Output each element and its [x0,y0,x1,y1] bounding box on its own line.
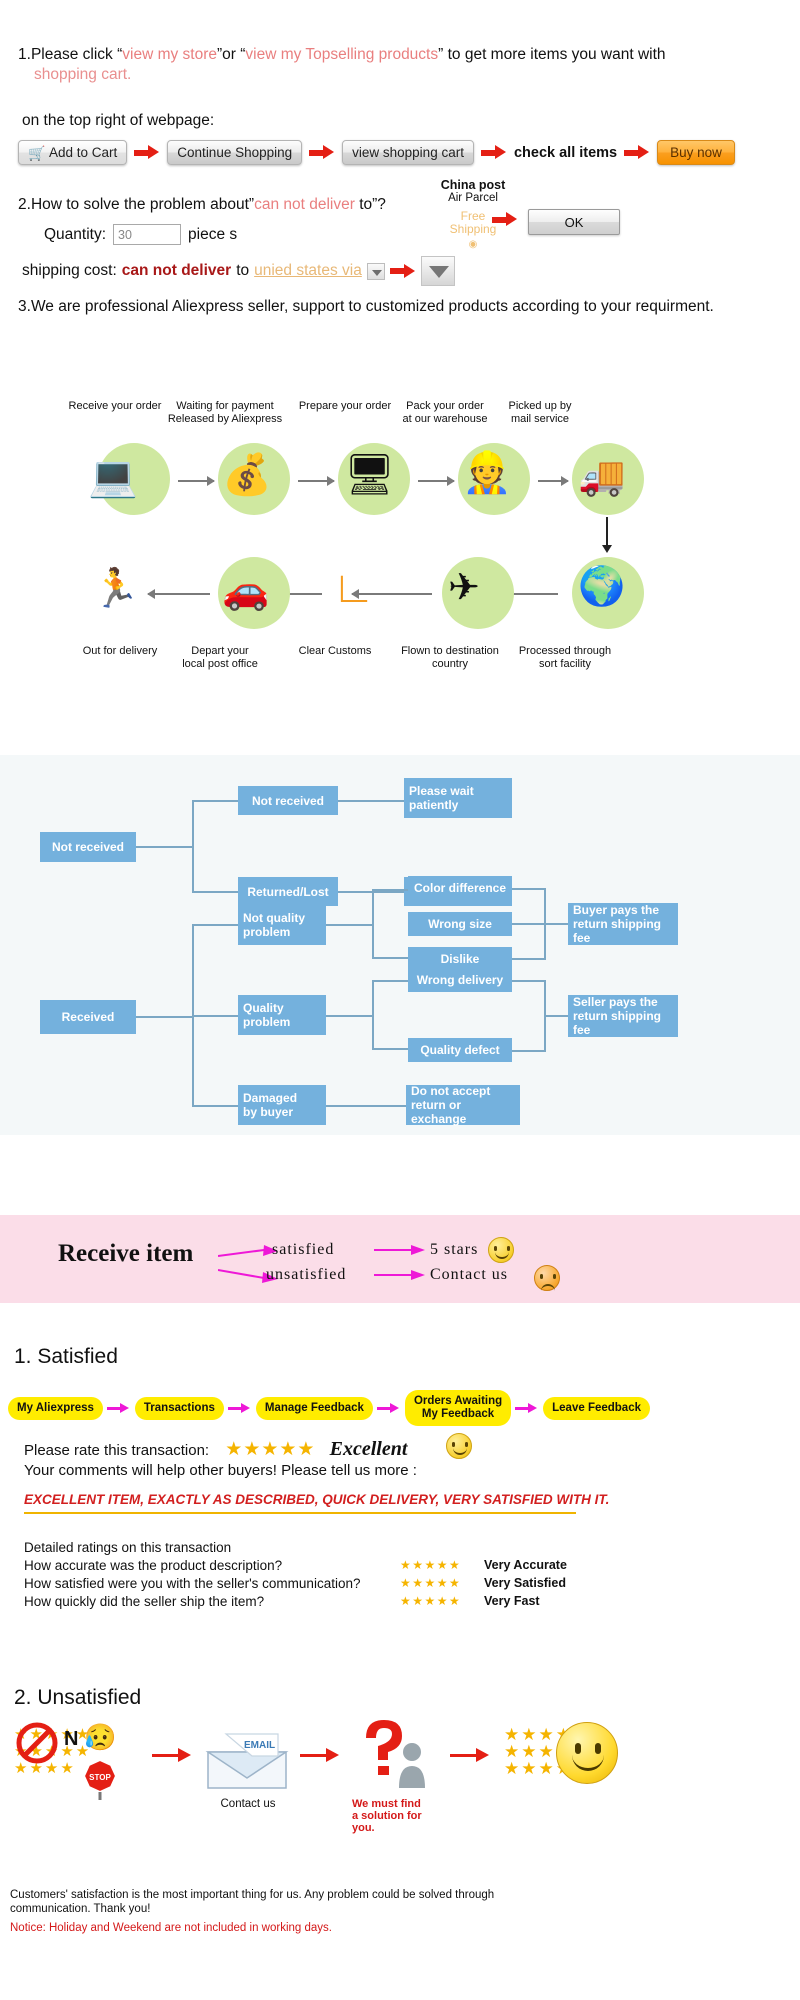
arrow-right-icon [107,1402,131,1414]
feedback-steps-row: My Aliexpress Transactions Manage Feedba… [8,1390,650,1426]
ok-label: OK [565,215,584,230]
arrow-right-icon [377,1402,401,1414]
magenta-arrow-icon [218,1245,280,1263]
rate-transaction-row: Please rate this transaction: ★★★★★ Exce… [24,1438,407,1461]
step-manage-feedback[interactable]: Manage Feedback [256,1397,373,1420]
shipping-label: Shipping [450,222,497,236]
arrow-right-icon [481,145,507,160]
flow-line [326,1015,374,1017]
destination-select[interactable]: unied states via [254,262,362,280]
flow-line [372,957,410,959]
happy-face-icon [488,1237,514,1263]
stop-sign-icon: STOP [78,1756,122,1800]
flow-line [326,1105,408,1107]
view-shopping-cart-label: view shopping cart [352,145,464,160]
arrow-right-icon [309,145,335,160]
flow-color-difference: Color difference [408,876,512,900]
solution-caption: We must find a solution for you. [352,1798,448,1834]
detail-question-1: How accurate was the product description… [24,1558,282,1573]
flow-line [512,958,546,960]
section3-text: 3.We are professional Aliexpress seller,… [18,298,714,316]
arrow-right-icon [178,480,214,482]
promo-page: 1.Please click “view my store”or “view m… [0,0,800,2000]
flow-line [512,1050,546,1052]
flow-seller-pays: Seller pays the return shipping fee [568,995,678,1037]
footer-line-1: Customers' satisfaction is the most impo… [10,1889,494,1901]
flow-damaged-by-buyer: Damaged by buyer [238,1085,326,1125]
svg-text:EMAIL: EMAIL [244,1740,275,1751]
flow-line [136,1016,194,1018]
view-shopping-cart-button[interactable]: view shopping cart [342,140,474,165]
section3-body: We are professional Aliexpress seller, s… [31,298,714,315]
view-my-store-link[interactable]: view my store [122,46,217,63]
mouth [541,1284,555,1291]
process-label-sort-facility: Processed through sort facility [500,645,630,671]
arrow-right-icon [515,1402,539,1414]
check-all-items-text: check all items [514,145,617,161]
flow-line [372,981,374,1049]
detail-label-1: Very Accurate [484,1558,567,1572]
process-label-depart-post-office: Depart your local post office [165,645,275,671]
process-label-clear-customs: Clear Customs [280,645,390,658]
flow-not-received-child: Not received [238,786,338,815]
sorting-facility-icon: 🌍 [578,565,625,609]
flow-line [192,1015,240,1017]
continue-shopping-button[interactable]: Continue Shopping [167,140,302,165]
arrow-right-icon [300,1748,344,1764]
footer-line-2: communication. Thank you! [10,1903,150,1915]
arrow-right-icon [228,1402,252,1414]
quantity-row: Quantity: 30 piece s [44,224,237,245]
arrow-right-icon [492,212,518,227]
comments-prompt: Your comments will help other buyers! Pl… [24,1462,417,1479]
process-label-pack-order: Pack your order at our warehouse [390,400,500,426]
process-label-prepare-order: Prepare your order [290,400,400,413]
shipping-process-diagram: Receive your order Waiting for payment R… [0,345,800,605]
truck-icon: 🚚 [578,455,625,499]
flow-root-not-received: Not received [40,832,136,862]
flow-returned-lost: Returned/Lost [238,877,338,906]
cannot-deliver-text: can not deliver [122,262,231,280]
mouth [495,1252,509,1259]
section1-text-b: ”or “ [217,46,245,63]
mouth [453,1448,467,1455]
customs-icon: ∟ [332,563,375,613]
flow-line [192,1105,240,1107]
flow-line [192,801,194,893]
arrow-right-icon [538,480,568,482]
big-smiley-icon [556,1722,618,1784]
worried-face-icon: 😥 [84,1722,116,1753]
continue-shopping-label: Continue Shopping [177,145,292,160]
shipping-cost-row: shipping cost:can not deliver to unied s… [22,256,455,286]
view-topselling-link[interactable]: view my Topselling products [245,46,438,63]
section3-number: 3. [18,298,31,315]
arrow-right-icon [418,480,454,482]
flow-line [512,923,546,925]
section2-number: 2. [18,196,31,213]
arrow-right-icon [298,480,334,482]
section2-text-red: can not deliver [254,196,355,213]
question-person-icon [352,1716,438,1796]
flow-wrong-size: Wrong size [408,912,512,936]
section1-line2: shopping cart. [34,66,131,84]
buy-now-label: Buy now [670,145,722,160]
flow-not-quality-problem: Not quality problem [238,905,326,945]
courier-running-icon: 🏃 [92,567,139,611]
shipping-method: China post Air Parcel [418,178,528,204]
process-label-out-for-delivery: Out for delivery [60,645,180,658]
flow-quality-problem: Quality problem [238,995,326,1035]
quantity-input[interactable]: 30 [113,224,181,245]
shipping-cost-label: shipping cost: [22,262,117,280]
detail-label-2: Very Satisfied [484,1576,566,1590]
car-icon: 🚗 [222,569,269,613]
arrow-right-icon [134,145,160,160]
arrow-down-icon [606,517,608,545]
section2-text-b: to”? [355,196,386,213]
eyes [452,1442,468,1447]
flow-please-wait: Please wait patiently [404,778,512,818]
arrow-right-icon [390,264,416,279]
flow-damaged-result: Do not accept return or exchange [406,1085,520,1125]
detail-label-3: Very Fast [484,1594,540,1608]
detail-ratings-heading: Detailed ratings on this transaction [24,1540,231,1555]
flow-quality-defect: Quality defect [408,1038,512,1062]
money-bag-icon: 💰 [222,451,272,498]
china-post-label: China post [418,178,528,192]
process-label-flown-destination: Flown to destination country [385,645,515,671]
quantity-label: Quantity: [44,226,106,244]
section1-text-c: ” to get more items you want with [438,46,665,63]
air-parcel-label: Air Parcel [418,192,528,204]
flow-line [192,891,240,893]
ok-button[interactable]: OK [528,209,620,235]
add-to-cart-button[interactable]: Add to Cart [18,140,127,165]
no-entry-icon [16,1722,58,1764]
monitor-box-icon: 🖥 [344,451,395,498]
footer-notice: Notice: Holiday and Weekend are not incl… [10,1922,332,1934]
flow-line [512,888,546,890]
eyes [494,1246,510,1251]
flow-line [192,800,240,802]
flow-root-received: Received [40,1000,136,1034]
radio-icon[interactable]: ◉ [418,238,528,251]
cart-button-row: Add to Cart Continue Shopping view shopp… [18,140,735,165]
flow-line [512,980,546,982]
flow-line [326,924,374,926]
satisfied-label: satisfied [272,1241,334,1259]
no-letter: N [64,1728,78,1751]
receive-item-title: Receive item [58,1240,193,1268]
detail-stars-1[interactable]: ★★★★★ [400,1558,461,1572]
flow-line [372,890,374,958]
eye-right [595,1743,601,1754]
piece-label: piece s [188,226,237,244]
section2-text-a: How to solve the problem about” [31,196,254,213]
to-text: to [236,262,249,280]
detail-stars-3[interactable]: ★★★★★ [400,1594,461,1608]
contact-us-caption: Contact us [204,1798,292,1810]
flow-buyer-pays: Buyer pays the return shipping fee [568,903,678,945]
section1-line1: 1.Please click “view my store”or “view m… [18,46,666,64]
step-leave-feedback[interactable]: Leave Feedback [543,1397,650,1420]
dropdown-toggle[interactable] [421,256,455,286]
section1-subline: on the top right of webpage: [22,112,214,130]
five-stars-label: 5 stars [430,1241,478,1259]
arrow-left-icon [148,593,210,595]
step-transactions[interactable]: Transactions [135,1397,224,1420]
sad-face-icon [534,1265,560,1291]
flow-wrong-delivery: Wrong delivery [408,968,512,992]
svg-text:STOP: STOP [89,1773,111,1782]
flow-line [372,980,410,982]
comment-text: EXCELLENT ITEM, EXACTLY AS DESCRIBED, QU… [24,1492,609,1507]
section2-question: 2.How to solve the problem about”can not… [18,196,386,214]
unsatisfied-label: unsatisfied [266,1266,346,1284]
magenta-arrow-icon [374,1243,426,1257]
process-label-receive-order: Receive your order [60,400,170,413]
resolution-flowchart: Not received Not received Please wait pa… [0,755,800,1135]
buy-now-button[interactable]: Buy now [657,140,735,165]
rating-stars[interactable]: ★★★★★ [225,1439,315,1460]
footer-text: Customers' satisfaction is the most impo… [10,1888,494,1916]
flow-line [372,889,410,891]
happy-face-icon [446,1433,472,1459]
chevron-down-icon[interactable] [367,263,385,280]
detail-question-3: How quickly did the seller ship the item… [24,1594,264,1609]
add-to-cart-label: Add to Cart [49,145,117,160]
eyes [540,1274,556,1279]
cart-icon [28,146,44,159]
comment-underline [24,1512,576,1514]
rate-prompt: Please rate this transaction: [24,1442,209,1459]
section1-number: 1. [18,46,31,63]
worker-package-icon: 👷 [462,449,512,496]
contact-us-label: Contact us [430,1266,508,1284]
flow-line [372,1048,410,1050]
magenta-arrow-icon [374,1268,426,1282]
arrow-right-icon [152,1748,196,1764]
flow-line [338,800,406,802]
person-computer-icon: 💻 [88,453,138,500]
detail-stars-2[interactable]: ★★★★★ [400,1576,461,1590]
rating-word: Excellent [330,1438,408,1460]
eye-left [575,1743,581,1754]
process-label-waiting-payment: Waiting for payment Released by Aliexpre… [160,400,290,426]
unsatisfied-heading: 2. Unsatisfied [14,1686,141,1710]
flow-line [136,846,194,848]
mouth [572,1755,604,1771]
flow-line [192,924,240,926]
airplane-icon: ✈ [448,565,480,610]
step-orders-awaiting[interactable]: Orders Awaiting My Feedback [405,1390,511,1426]
detail-question-2: How satisfied were you with the seller's… [24,1576,360,1591]
section1-text-a: Please click “ [31,46,122,63]
free-label: Free [461,209,486,223]
arrow-right-icon [624,145,650,160]
process-label-picked-up: Picked up by mail service [485,400,595,426]
email-icon: EMAIL [204,1730,292,1792]
step-my-aliexpress[interactable]: My Aliexpress [8,1397,103,1420]
satisfied-heading: 1. Satisfied [14,1345,118,1369]
arrow-right-icon [450,1748,494,1764]
